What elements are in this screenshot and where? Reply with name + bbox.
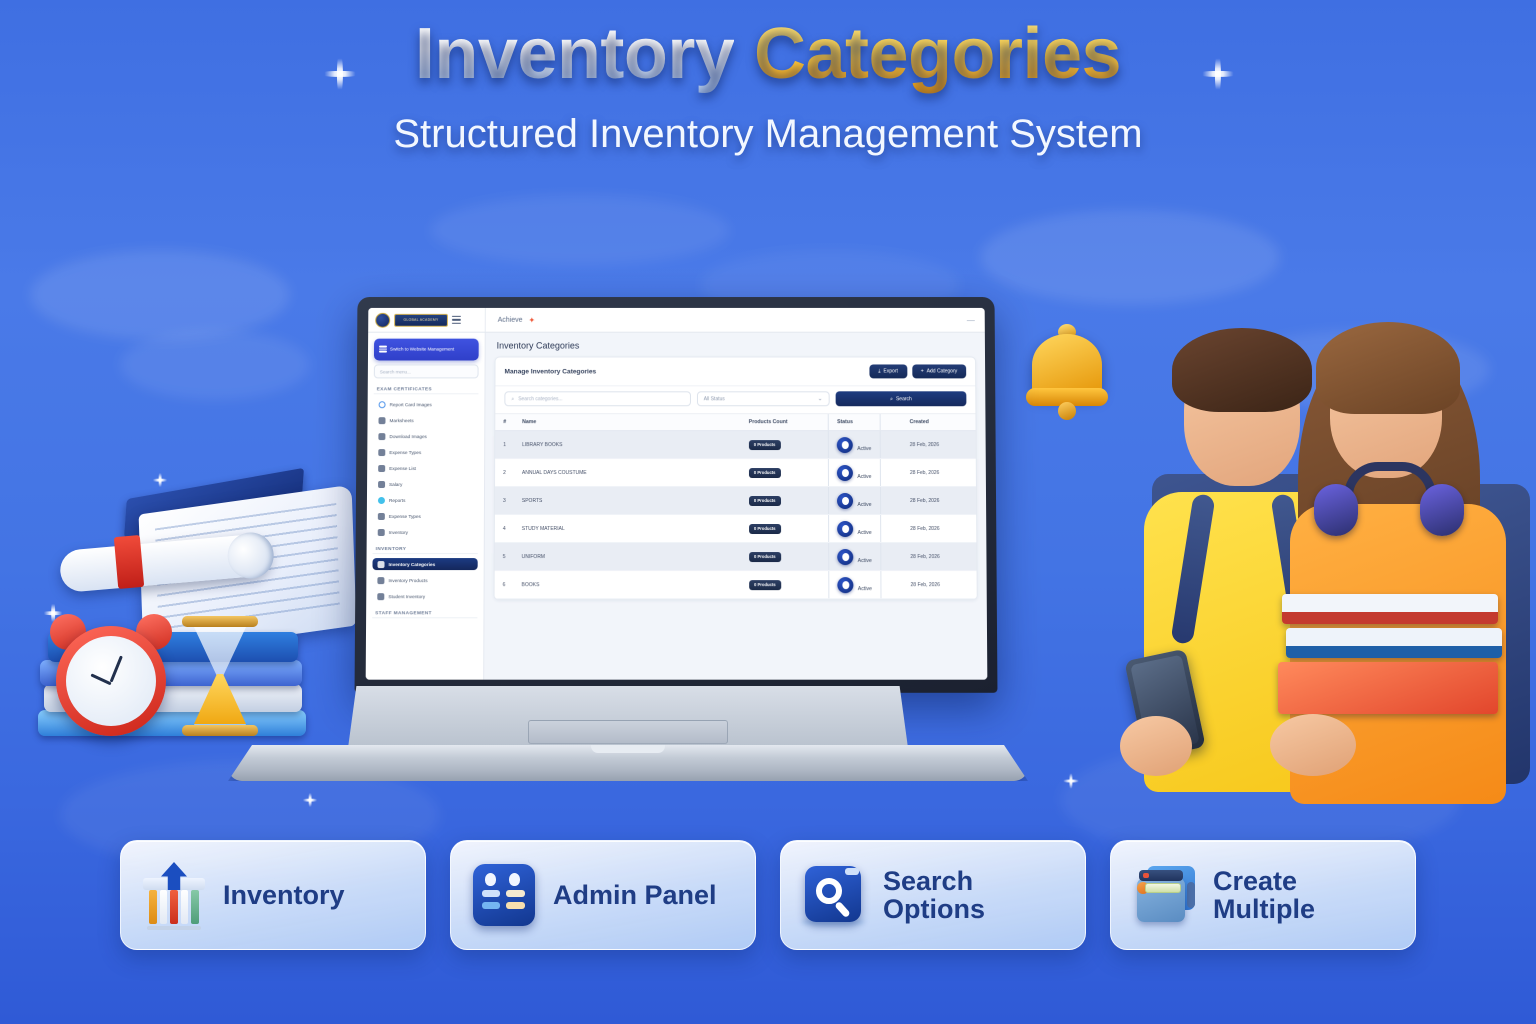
row-count-cell: 0 Products — [741, 571, 829, 599]
col-name: Name — [514, 414, 741, 431]
status-label: Active — [858, 530, 872, 537]
tag-icon — [377, 561, 384, 568]
table-header-row: # Name Products Count Status Created — [495, 414, 975, 431]
carried-books-icon — [1282, 594, 1502, 734]
row-number: 5 — [495, 543, 514, 571]
star-icon: ✦ — [528, 315, 535, 324]
filter-bar: ⌕ Search categories... All Status ⌄ ⌕ Se… — [495, 385, 975, 413]
feature-buttons: Inventory Admin Panel Search Options Cre… — [0, 840, 1536, 950]
admin-card-icon — [471, 862, 537, 928]
sidebar-item-report-card-images[interactable]: Report Card Images — [374, 398, 479, 410]
row-status-cell: Active — [829, 459, 880, 487]
sidebar-item-inventory[interactable]: Inventory — [373, 526, 478, 538]
row-actions-cell[interactable] — [880, 571, 902, 599]
search-icon: ⌕ — [511, 396, 514, 402]
scroll-ribbon-icon — [114, 535, 144, 589]
row-status-cell: Active — [829, 571, 880, 599]
status-filter-select[interactable]: All Status ⌄ — [697, 391, 830, 406]
categories-table: # Name Products Count Status Created — [495, 413, 977, 599]
school-bell-icon — [1026, 334, 1108, 420]
row-created: 28 Feb, 2026 — [902, 431, 976, 459]
laptop-lid: GLOBAL ACADEMY Achieve ✦ — Switch to Web… — [355, 297, 998, 693]
search-icon: ⌕ — [890, 396, 893, 402]
add-category-button[interactable]: + Add Category — [912, 364, 966, 378]
hamburger-icon[interactable] — [452, 315, 461, 324]
sidebar-item-student-inventory[interactable]: Student Inventory — [372, 590, 477, 602]
products-count-badge: 0 Products — [749, 440, 781, 450]
col-number: # — [495, 414, 514, 431]
page-title: Inventory Categories — [0, 18, 1536, 90]
sidebar-item-reports[interactable]: Reports — [373, 494, 478, 506]
main-content: Inventory Categories Manage Inventory Ca… — [484, 333, 987, 680]
sidebar-section-inventory: INVENTORY — [373, 542, 478, 554]
row-actions-cell[interactable] — [880, 543, 902, 571]
status-label: Active — [857, 501, 871, 508]
sidebar-item-label: Report Card Images — [390, 402, 432, 407]
categories-card: Manage Inventory Categories ⤓ Export + A… — [494, 357, 978, 601]
gear-icon — [378, 449, 385, 456]
search-button[interactable]: ⌕ Search — [836, 391, 967, 406]
alarm-clock-icon — [50, 614, 172, 736]
sidebar-item-label: Marksheets — [389, 418, 413, 423]
ring-icon — [379, 401, 386, 408]
title-part-one: Inventory — [415, 14, 735, 94]
document-icon — [378, 417, 385, 424]
feature-button-admin-panel[interactable]: Admin Panel — [450, 840, 756, 950]
feature-label: Admin Panel — [553, 881, 717, 909]
products-count-badge: 0 Products — [749, 468, 781, 478]
sidebar-section-exam-certificates: EXAM CERTIFICATES — [374, 382, 479, 394]
logo-plate-text: GLOBAL ACADEMY — [404, 318, 439, 322]
stacked-forms-icon — [1131, 862, 1197, 928]
sidebar-search-input[interactable]: Search menu... — [374, 364, 479, 378]
gear-icon — [378, 465, 385, 472]
table-row[interactable]: 4 STUDY MATERIAL 0 Products Active — [495, 514, 977, 542]
sidebar-section-staff-management: STAFF MANAGEMENT — [372, 606, 477, 618]
school-logo-icon — [375, 312, 390, 327]
gear-icon — [378, 433, 385, 440]
row-name: LIBRARY BOOKS — [514, 431, 741, 459]
sidebar-item-label: Download Images — [389, 434, 427, 439]
status-toggle[interactable] — [837, 493, 853, 509]
search-placeholder: Search categories... — [518, 396, 562, 402]
status-toggle[interactable] — [837, 465, 853, 481]
students-illustration — [1016, 274, 1536, 794]
col-actions — [880, 414, 902, 431]
feature-label: Create Multiple — [1213, 867, 1395, 924]
status-filter-value: All Status — [704, 396, 725, 402]
sidebar-item-expense-types[interactable]: Expense Types — [373, 446, 478, 458]
search-input[interactable]: ⌕ Search categories... — [504, 391, 690, 406]
sidebar-item-expense-types-2[interactable]: Expense Types — [373, 510, 478, 522]
row-actions-cell[interactable] — [880, 459, 902, 487]
row-actions-cell[interactable] — [880, 487, 902, 515]
row-number: 1 — [495, 431, 514, 459]
sidebar-item-label: Expense List — [389, 466, 416, 471]
sidebar-search-placeholder: Search menu... — [380, 369, 411, 374]
chevron-down-icon: ⌄ — [818, 395, 823, 402]
row-number: 2 — [495, 459, 514, 487]
row-status-cell: Active — [829, 431, 880, 459]
sidebar-item-salary[interactable]: Salary — [373, 478, 478, 490]
card-header: Manage Inventory Categories ⤓ Export + A… — [495, 358, 975, 386]
warehouse-chart-icon — [141, 862, 207, 928]
headphones-icon — [1318, 462, 1460, 526]
sidebar-item-download-images[interactable]: Download Images — [373, 430, 478, 442]
row-name: ANNUAL DAYS COUSTUME — [514, 459, 741, 487]
sidebar-item-label: Inventory Products — [388, 578, 427, 583]
folder-icon — [378, 512, 385, 519]
status-label: Active — [858, 558, 872, 565]
table-row[interactable]: 6 BOOKS 0 Products Active — [495, 571, 977, 599]
col-created: Created — [902, 414, 976, 431]
row-count-cell: 0 Products — [741, 459, 829, 487]
row-created: 28 Feb, 2026 — [902, 487, 976, 515]
sidebar-item-expense-list[interactable]: Expense List — [373, 462, 478, 474]
content-page-title: Inventory Categories — [497, 341, 976, 351]
products-count-badge: 0 Products — [749, 580, 781, 590]
sidebar-item-label: Salary — [389, 482, 402, 487]
laptop-trackpad — [528, 720, 728, 744]
box-icon — [378, 529, 385, 536]
app-topbar: GLOBAL ACADEMY Achieve ✦ — — [368, 308, 985, 333]
table-row[interactable]: 3 SPORTS 0 Products Active — [495, 487, 976, 515]
magnifier-icon — [801, 862, 867, 928]
row-created: 28 Feb, 2026 — [902, 459, 976, 487]
row-created: 28 Feb, 2026 — [902, 571, 976, 599]
sidebar-item-label: Expense Types — [389, 450, 421, 455]
school-name-plate: GLOBAL ACADEMY — [394, 313, 448, 326]
switch-to-website-management-button[interactable]: Switch to Website Management — [374, 339, 479, 361]
user-icon — [377, 593, 384, 600]
products-count-badge: 0 Products — [749, 552, 781, 562]
sidebar-item-label: Inventory — [389, 530, 408, 535]
status-toggle[interactable] — [837, 521, 853, 537]
row-created: 28 Feb, 2026 — [902, 514, 976, 542]
status-toggle[interactable] — [838, 577, 854, 593]
search-button-label: Search — [896, 396, 912, 402]
page-header: Inventory Categories Structured Inventor… — [0, 18, 1536, 157]
row-count-cell: 0 Products — [741, 487, 829, 515]
gear-icon — [378, 481, 385, 488]
sidebar-item-inventory-categories[interactable]: Inventory Categories — [372, 558, 477, 570]
products-count-badge: 0 Products — [749, 495, 781, 505]
sidebar-item-label: Student Inventory — [388, 594, 425, 599]
status-toggle[interactable] — [837, 437, 853, 453]
col-products-count: Products Count — [741, 414, 829, 431]
feature-button-create-multiple[interactable]: Create Multiple — [1110, 840, 1416, 950]
table-body: 1 LIBRARY BOOKS 0 Products Active — [495, 431, 977, 599]
row-number: 3 — [495, 487, 514, 515]
feature-button-search-options[interactable]: Search Options — [780, 840, 1086, 950]
breadcrumb-label[interactable]: Achieve — [498, 316, 523, 323]
download-icon: ⤓ — [878, 368, 880, 374]
sidebar: Switch to Website Management Search menu… — [366, 333, 486, 680]
laptop-mockup: GLOBAL ACADEMY Achieve ✦ — Switch to Web… — [228, 296, 1028, 781]
card-actions: ⤓ Export + Add Category — [869, 364, 966, 378]
table-head: # Name Products Count Status Created — [495, 414, 975, 431]
plus-icon: + — [921, 368, 924, 374]
row-number: 4 — [495, 514, 514, 542]
row-status-cell: Active — [829, 487, 880, 515]
col-status: Status — [829, 414, 880, 431]
feature-label: Search Options — [883, 867, 1065, 924]
row-count-cell: 0 Products — [741, 431, 829, 459]
row-name: SPORTS — [514, 487, 741, 515]
row-status-cell: Active — [829, 514, 880, 542]
row-name: BOOKS — [513, 571, 741, 599]
export-button-label: Export — [883, 368, 897, 374]
row-count-cell: 0 Products — [741, 543, 829, 571]
row-actions-cell[interactable] — [880, 431, 902, 459]
title-part-two: Categories — [754, 14, 1121, 94]
switch-button-label: Switch to Website Management — [390, 347, 454, 353]
page-subtitle: Structured Inventory Management System — [0, 112, 1536, 157]
table-row[interactable]: 5 UNIFORM 0 Products Active — [495, 543, 977, 571]
row-name: UNIFORM — [514, 543, 741, 571]
gear-icon — [377, 577, 384, 584]
card-heading: Manage Inventory Categories — [504, 368, 596, 375]
status-label: Active — [857, 474, 871, 481]
laptop-screen: GLOBAL ACADEMY Achieve ✦ — Switch to Web… — [366, 308, 988, 680]
export-button[interactable]: ⤓ Export — [869, 364, 907, 378]
chart-icon — [378, 496, 385, 503]
add-button-label: Add Category — [927, 368, 958, 374]
switch-icon — [379, 346, 387, 354]
row-status-cell: Active — [829, 543, 880, 571]
window-minimize-icon[interactable]: — — [967, 315, 985, 324]
app-body: Switch to Website Management Search menu… — [366, 333, 988, 680]
status-toggle[interactable] — [838, 549, 854, 565]
female-student-avatar — [1260, 294, 1536, 794]
feature-label: Inventory — [223, 881, 345, 909]
status-label: Active — [857, 446, 871, 453]
sparkle-icon — [300, 790, 320, 810]
sidebar-item-marksheets[interactable]: Marksheets — [373, 414, 478, 426]
brand-zone: GLOBAL ACADEMY — [368, 308, 486, 332]
sidebar-item-inventory-products[interactable]: Inventory Products — [372, 574, 477, 586]
sidebar-item-label: Reports — [389, 497, 405, 502]
row-count-cell: 0 Products — [741, 514, 829, 542]
feature-button-inventory[interactable]: Inventory — [120, 840, 426, 950]
laptop-notch — [591, 745, 665, 753]
breadcrumb: Achieve ✦ — [486, 315, 535, 324]
products-count-badge: 0 Products — [749, 524, 781, 534]
row-number: 6 — [495, 571, 514, 599]
row-actions-cell[interactable] — [880, 514, 902, 542]
row-created: 28 Feb, 2026 — [902, 543, 976, 571]
status-label: Active — [858, 586, 872, 593]
row-name: STUDY MATERIAL — [514, 514, 741, 542]
table-row[interactable]: 2 ANNUAL DAYS COUSTUME 0 Products Active — [495, 459, 976, 487]
table-row[interactable]: 1 LIBRARY BOOKS 0 Products Active — [495, 431, 976, 459]
sidebar-item-label: Expense Types — [389, 513, 421, 518]
sidebar-item-label: Inventory Categories — [389, 562, 436, 567]
